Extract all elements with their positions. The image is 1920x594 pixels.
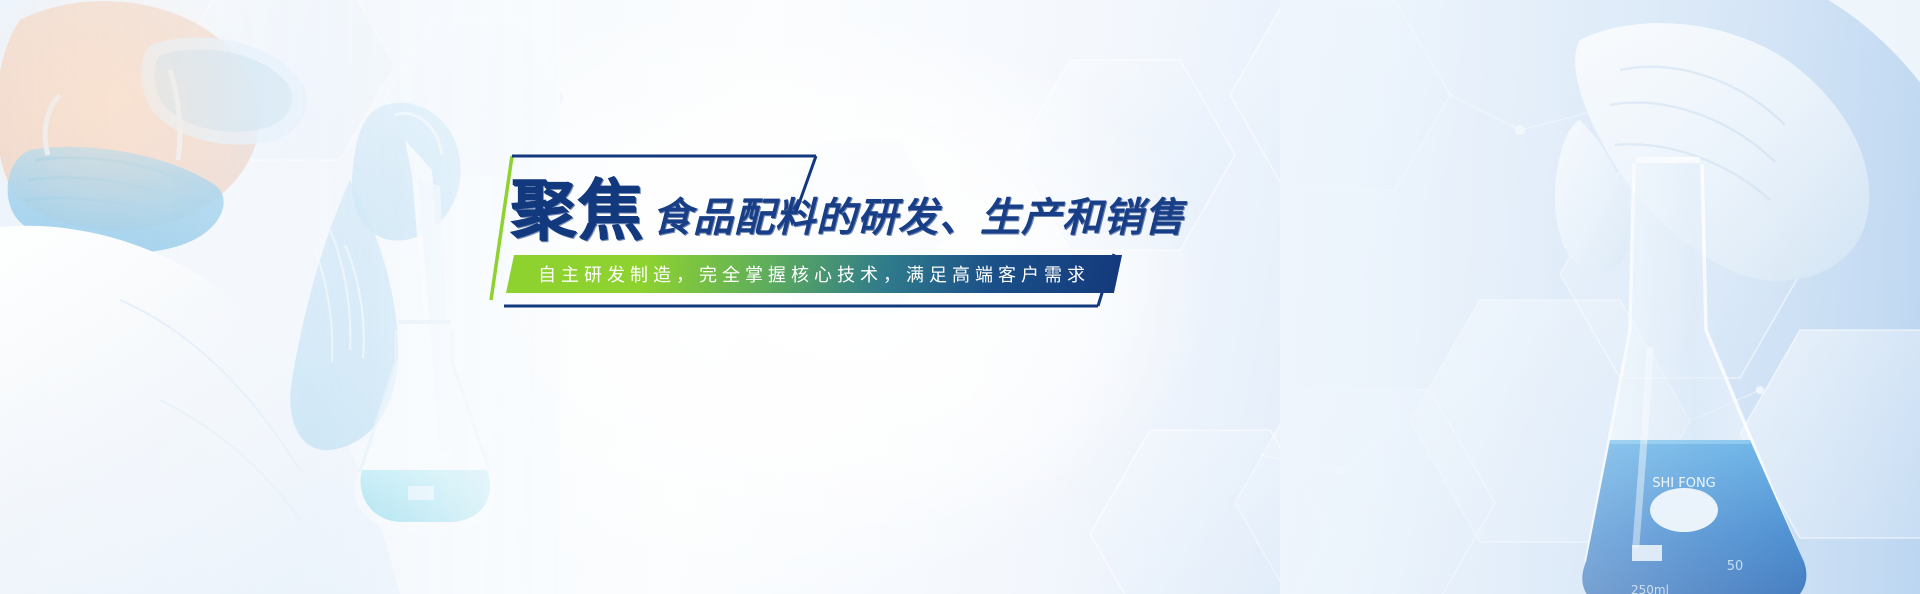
- headline: 聚焦 食品配料的研发、生产和销售: [510, 178, 1185, 244]
- subtitle-text: 自主研发制造，完全掌握核心技术，满足高端客户需求: [538, 261, 1090, 287]
- headline-emphasis: 聚焦: [510, 178, 644, 244]
- left-scientist-photo: [0, 0, 560, 594]
- hero-banner: SHI FONG 50 250ml: [0, 0, 1920, 594]
- headline-rest: 食品配料的研发、生产和销售: [652, 198, 1185, 238]
- subtitle-gradient-bar: 自主研发制造，完全掌握核心技术，满足高端客户需求: [506, 255, 1122, 293]
- hero-text-block: 聚焦 食品配料的研发、生产和销售 自主研发制造，完全掌握核心技术，满足高端客户需…: [486, 150, 1126, 310]
- right-beaker-photo: SHI FONG 50 250ml: [1280, 0, 1920, 594]
